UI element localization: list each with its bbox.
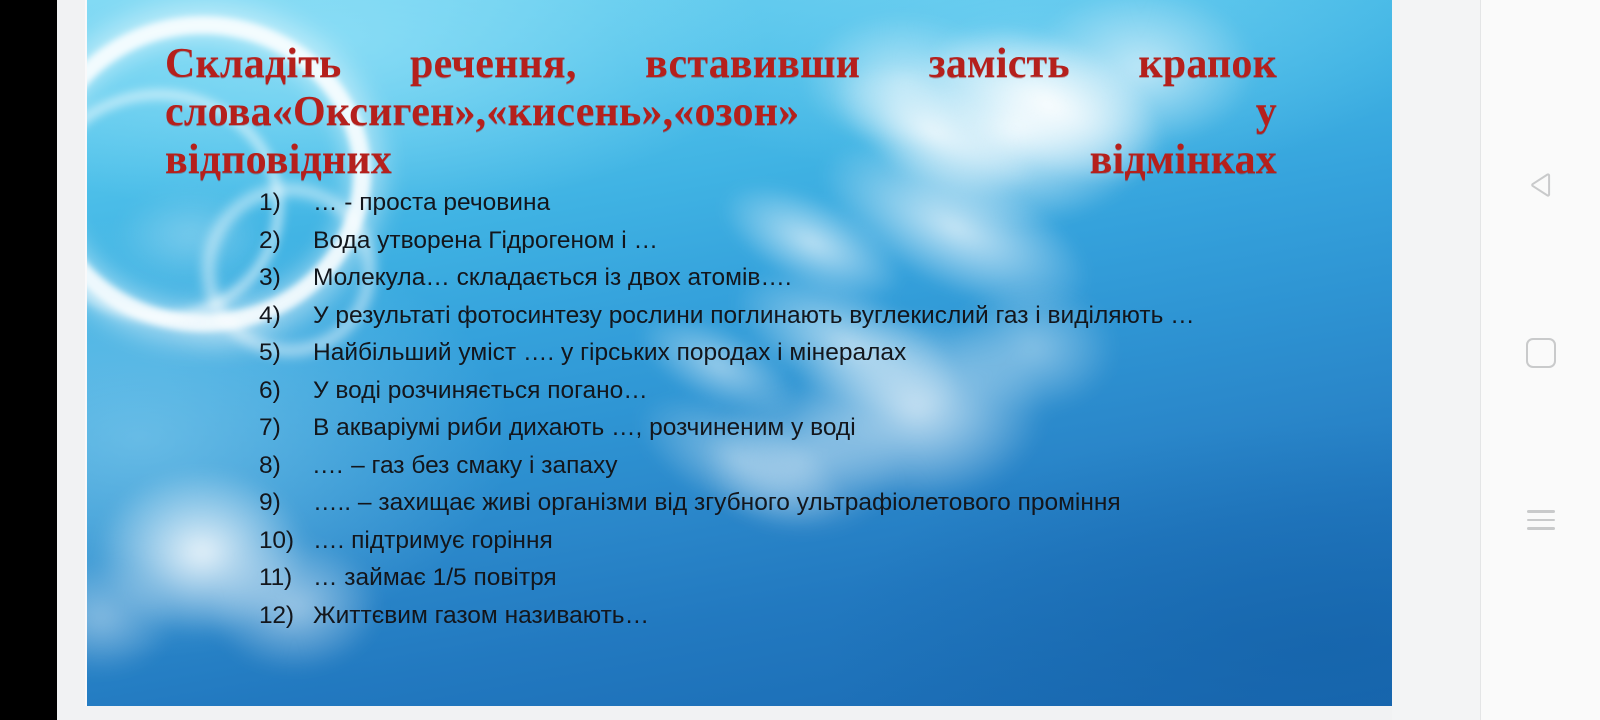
device-bezel-left bbox=[0, 0, 57, 720]
list-item-number: 12) bbox=[259, 597, 313, 635]
list-item-text: .… – газ без смаку і запаху bbox=[313, 447, 618, 485]
home-button[interactable] bbox=[1481, 318, 1600, 388]
slide-title: Складіть речення, вставивши замість крап… bbox=[165, 40, 1277, 184]
hamburger-lines-icon bbox=[1527, 504, 1555, 535]
slide-title-line-3-right: відмінках bbox=[1090, 136, 1277, 184]
list-item: 11) … займає 1/5 повітря bbox=[259, 559, 1379, 597]
list-item-text: Вода утворена Гідрогеном і … bbox=[313, 222, 658, 260]
list-item-text: …. підтримує горіння bbox=[313, 522, 553, 560]
list-item-text: ….. – захищає живі організми від згубног… bbox=[313, 484, 1121, 522]
screen-root: Складіть речення, вставивши замість крап… bbox=[0, 0, 1600, 720]
list-item-number: 11) bbox=[259, 559, 313, 597]
slide-numbered-list: 1) … - проста речовина 2) Вода утворена … bbox=[259, 184, 1379, 634]
list-item-number: 1) bbox=[259, 184, 313, 222]
triangle-left-icon bbox=[1524, 168, 1558, 202]
recents-button[interactable] bbox=[1481, 485, 1600, 555]
slide-title-line-3: відповідних відмінках bbox=[165, 136, 1277, 184]
list-item-number: 5) bbox=[259, 334, 313, 372]
list-item-number: 8) bbox=[259, 447, 313, 485]
list-item: 9) ….. – захищає живі організми від згуб… bbox=[259, 484, 1379, 522]
list-item-text: Найбільший уміст …. у гірських породах і… bbox=[313, 334, 906, 372]
rounded-square-icon bbox=[1526, 338, 1556, 368]
android-navigation-bar bbox=[1480, 0, 1600, 720]
slide-left-edge-highlight bbox=[85, 0, 87, 706]
list-item-number: 4) bbox=[259, 297, 313, 335]
list-item: 1) … - проста речовина bbox=[259, 184, 1379, 222]
list-item: 6) У воді розчиняється погано… bbox=[259, 372, 1379, 410]
list-item-number: 6) bbox=[259, 372, 313, 410]
list-item: 10) …. підтримує горіння bbox=[259, 522, 1379, 560]
slide-title-line-3-left: відповідних bbox=[165, 136, 392, 184]
list-item-number: 7) bbox=[259, 409, 313, 447]
slide-title-line-2-left: слова«Оксиген»,«кисень»,«озон» bbox=[165, 88, 799, 136]
list-item-number: 10) bbox=[259, 522, 313, 560]
back-button[interactable] bbox=[1481, 150, 1600, 220]
list-item-text: … - проста речовина bbox=[313, 184, 550, 222]
list-item-text: У результаті фотосинтезу рослини поглина… bbox=[313, 297, 1195, 335]
list-item-text: У воді розчиняється погано… bbox=[313, 372, 648, 410]
list-item-number: 9) bbox=[259, 484, 313, 522]
list-item: 2) Вода утворена Гідрогеном і … bbox=[259, 222, 1379, 260]
list-item: 8) .… – газ без смаку і запаху bbox=[259, 447, 1379, 485]
list-item-text: Молекула… складається із двох атомів…. bbox=[313, 259, 792, 297]
slide-title-line-2: слова«Оксиген»,«кисень»,«озон» у bbox=[165, 88, 1277, 136]
list-item: 3) Молекула… складається із двох атомів…… bbox=[259, 259, 1379, 297]
list-item-text: В акваріумі риби дихають …, розчиненим у… bbox=[313, 409, 856, 447]
list-item: 7) В акваріумі риби дихають …, розчинени… bbox=[259, 409, 1379, 447]
slide-title-line-2-right: у bbox=[1256, 88, 1277, 136]
list-item: 4) У результаті фотосинтезу рослини погл… bbox=[259, 297, 1379, 335]
list-item: 5) Найбільший уміст …. у гірських порода… bbox=[259, 334, 1379, 372]
list-item-text: Життєвим газом називають… bbox=[313, 597, 649, 635]
list-item-text: … займає 1/5 повітря bbox=[313, 559, 557, 597]
presentation-slide[interactable]: Складіть речення, вставивши замість крап… bbox=[87, 0, 1392, 706]
slide-title-line-1: Складіть речення, вставивши замість крап… bbox=[165, 40, 1277, 88]
list-item: 12) Життєвим газом називають… bbox=[259, 597, 1379, 635]
list-item-number: 2) bbox=[259, 222, 313, 260]
list-item-number: 3) bbox=[259, 259, 313, 297]
